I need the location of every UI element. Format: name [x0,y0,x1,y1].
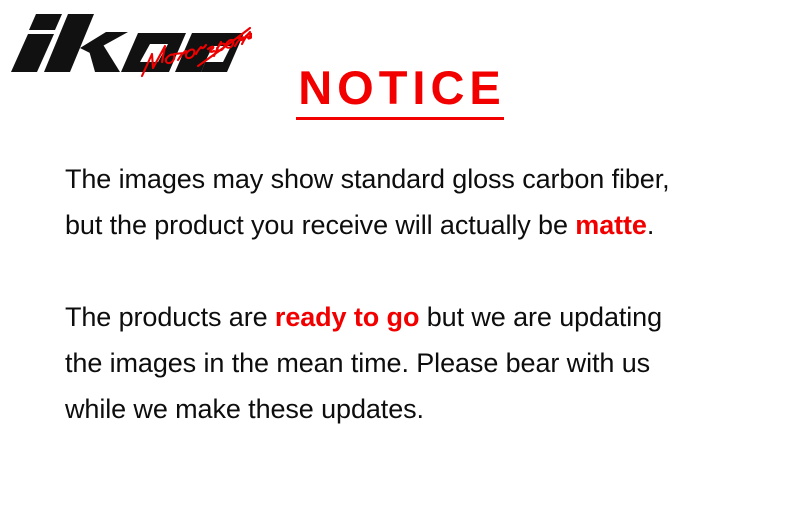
notice-paragraph-2: The products are ready to go but we are … [65,294,765,432]
body-text: but the product you receive will actuall… [65,210,575,240]
body-text: but we are updating [419,302,662,332]
body-text: . [647,210,654,240]
body-text: the images in the mean time. Please bear… [65,348,650,378]
emphasis-text: ready to go [275,302,419,332]
notice-page: NOTICE The images may show standard glos… [0,0,800,510]
body-text: while we make these updates. [65,394,424,424]
notice-paragraph-1: The images may show standard gloss carbo… [65,156,765,248]
notice-line: The images may show standard gloss carbo… [65,156,765,202]
notice-line: but the product you receive will actuall… [65,202,765,248]
notice-body: The images may show standard gloss carbo… [65,156,765,432]
notice-line: the images in the mean time. Please bear… [65,340,765,386]
notice-line: The products are ready to go but we are … [65,294,765,340]
body-text: The images may show standard gloss carbo… [65,164,670,194]
notice-heading-container: NOTICE [0,64,800,112]
page-title: NOTICE [292,64,508,112]
emphasis-text: matte [575,210,647,240]
heading-underline [296,117,504,120]
notice-line: while we make these updates. [65,386,765,432]
body-text: The products are [65,302,275,332]
